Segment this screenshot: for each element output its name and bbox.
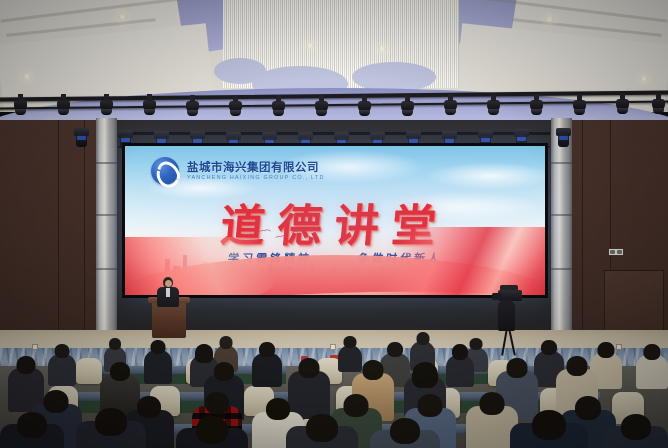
ribbon-left bbox=[125, 237, 281, 295]
attendee-front-row bbox=[0, 412, 64, 448]
company-name-cn: 盐城市海兴集团有限公司 bbox=[187, 161, 325, 174]
stage-spotlight bbox=[14, 100, 27, 111]
attendee bbox=[144, 340, 172, 380]
company-name-en: YANCHENG HAIXING GROUP CO., LTD bbox=[187, 175, 325, 181]
stage-spotlight bbox=[487, 100, 500, 111]
attendee bbox=[446, 344, 474, 382]
auditorium-photo: 盐城市海兴集团有限公司 YANCHENG HAIXING GROUP CO., … bbox=[0, 0, 668, 448]
pillar-seam bbox=[551, 214, 572, 216]
stage-spotlight bbox=[616, 99, 629, 110]
stage-spotlight bbox=[530, 100, 543, 111]
stage-spotlight bbox=[229, 101, 242, 112]
pillar-seam bbox=[96, 214, 117, 216]
attendee bbox=[48, 344, 76, 382]
wood-seam bbox=[582, 120, 583, 338]
stage-spotlight bbox=[272, 101, 285, 112]
cloud bbox=[425, 162, 545, 190]
ceiling-downlight bbox=[640, 76, 648, 81]
stage-spotlight bbox=[573, 100, 586, 111]
haixing-group-logo-icon bbox=[151, 157, 179, 185]
led-screen: 盐城市海兴集团有限公司 YANCHENG HAIXING GROUP CO., … bbox=[122, 143, 548, 298]
ceiling-downlight bbox=[23, 74, 31, 79]
attendee-front-row bbox=[76, 408, 146, 448]
led-screen-content: 盐城市海兴集团有限公司 YANCHENG HAIXING GROUP CO., … bbox=[125, 146, 545, 295]
wood-seam bbox=[84, 120, 85, 338]
attendee bbox=[636, 344, 668, 384]
bird-icon bbox=[259, 230, 266, 235]
right-wood-wall bbox=[564, 120, 668, 338]
bird-icon bbox=[275, 236, 282, 241]
attendee-front-row bbox=[370, 418, 440, 448]
stage-spotlight bbox=[57, 100, 70, 111]
chandelier-scallop bbox=[214, 58, 266, 84]
attendee bbox=[252, 342, 282, 382]
left-silver-pillar bbox=[96, 118, 117, 340]
stage-spotlight bbox=[143, 100, 156, 111]
ceiling-downlight bbox=[545, 16, 554, 22]
stage-spotlight bbox=[315, 101, 328, 112]
emergency-light-icon bbox=[608, 248, 624, 256]
pillar-seam bbox=[551, 268, 572, 270]
stage-spotlight bbox=[358, 101, 371, 112]
stage-spotlight bbox=[100, 100, 113, 111]
pillar-seam bbox=[96, 268, 117, 270]
chair bbox=[76, 358, 102, 384]
stage-spotlight bbox=[652, 99, 665, 110]
pillar-seam bbox=[551, 162, 572, 164]
screen-brand-row: 盐城市海兴集团有限公司 YANCHENG HAIXING GROUP CO., … bbox=[151, 157, 325, 185]
bird-icon bbox=[291, 231, 298, 236]
attendee-front-row bbox=[286, 414, 358, 448]
wall-marker bbox=[330, 344, 336, 350]
attendee-front-row bbox=[510, 410, 588, 448]
pillar-seam bbox=[96, 162, 117, 164]
right-silver-pillar bbox=[551, 118, 572, 340]
presenter-at-podium bbox=[157, 277, 179, 305]
soffit-downlight bbox=[378, 46, 386, 51]
stage-spotlight bbox=[186, 101, 199, 112]
camera-operator-body bbox=[498, 301, 515, 331]
soffit-downlight bbox=[306, 43, 314, 48]
ceiling-downlight bbox=[118, 14, 127, 20]
stage-spotlight bbox=[444, 100, 457, 111]
wall-marker bbox=[32, 344, 38, 350]
attendee-front-row bbox=[604, 414, 668, 448]
stage-spotlight bbox=[401, 101, 414, 112]
attendee-front-row bbox=[176, 416, 248, 448]
left-wood-wall bbox=[0, 120, 104, 338]
moving-head-light bbox=[556, 128, 571, 148]
video-camera-on-tripod bbox=[492, 284, 526, 340]
wood-seam bbox=[58, 120, 59, 338]
moving-head-light bbox=[74, 128, 89, 148]
